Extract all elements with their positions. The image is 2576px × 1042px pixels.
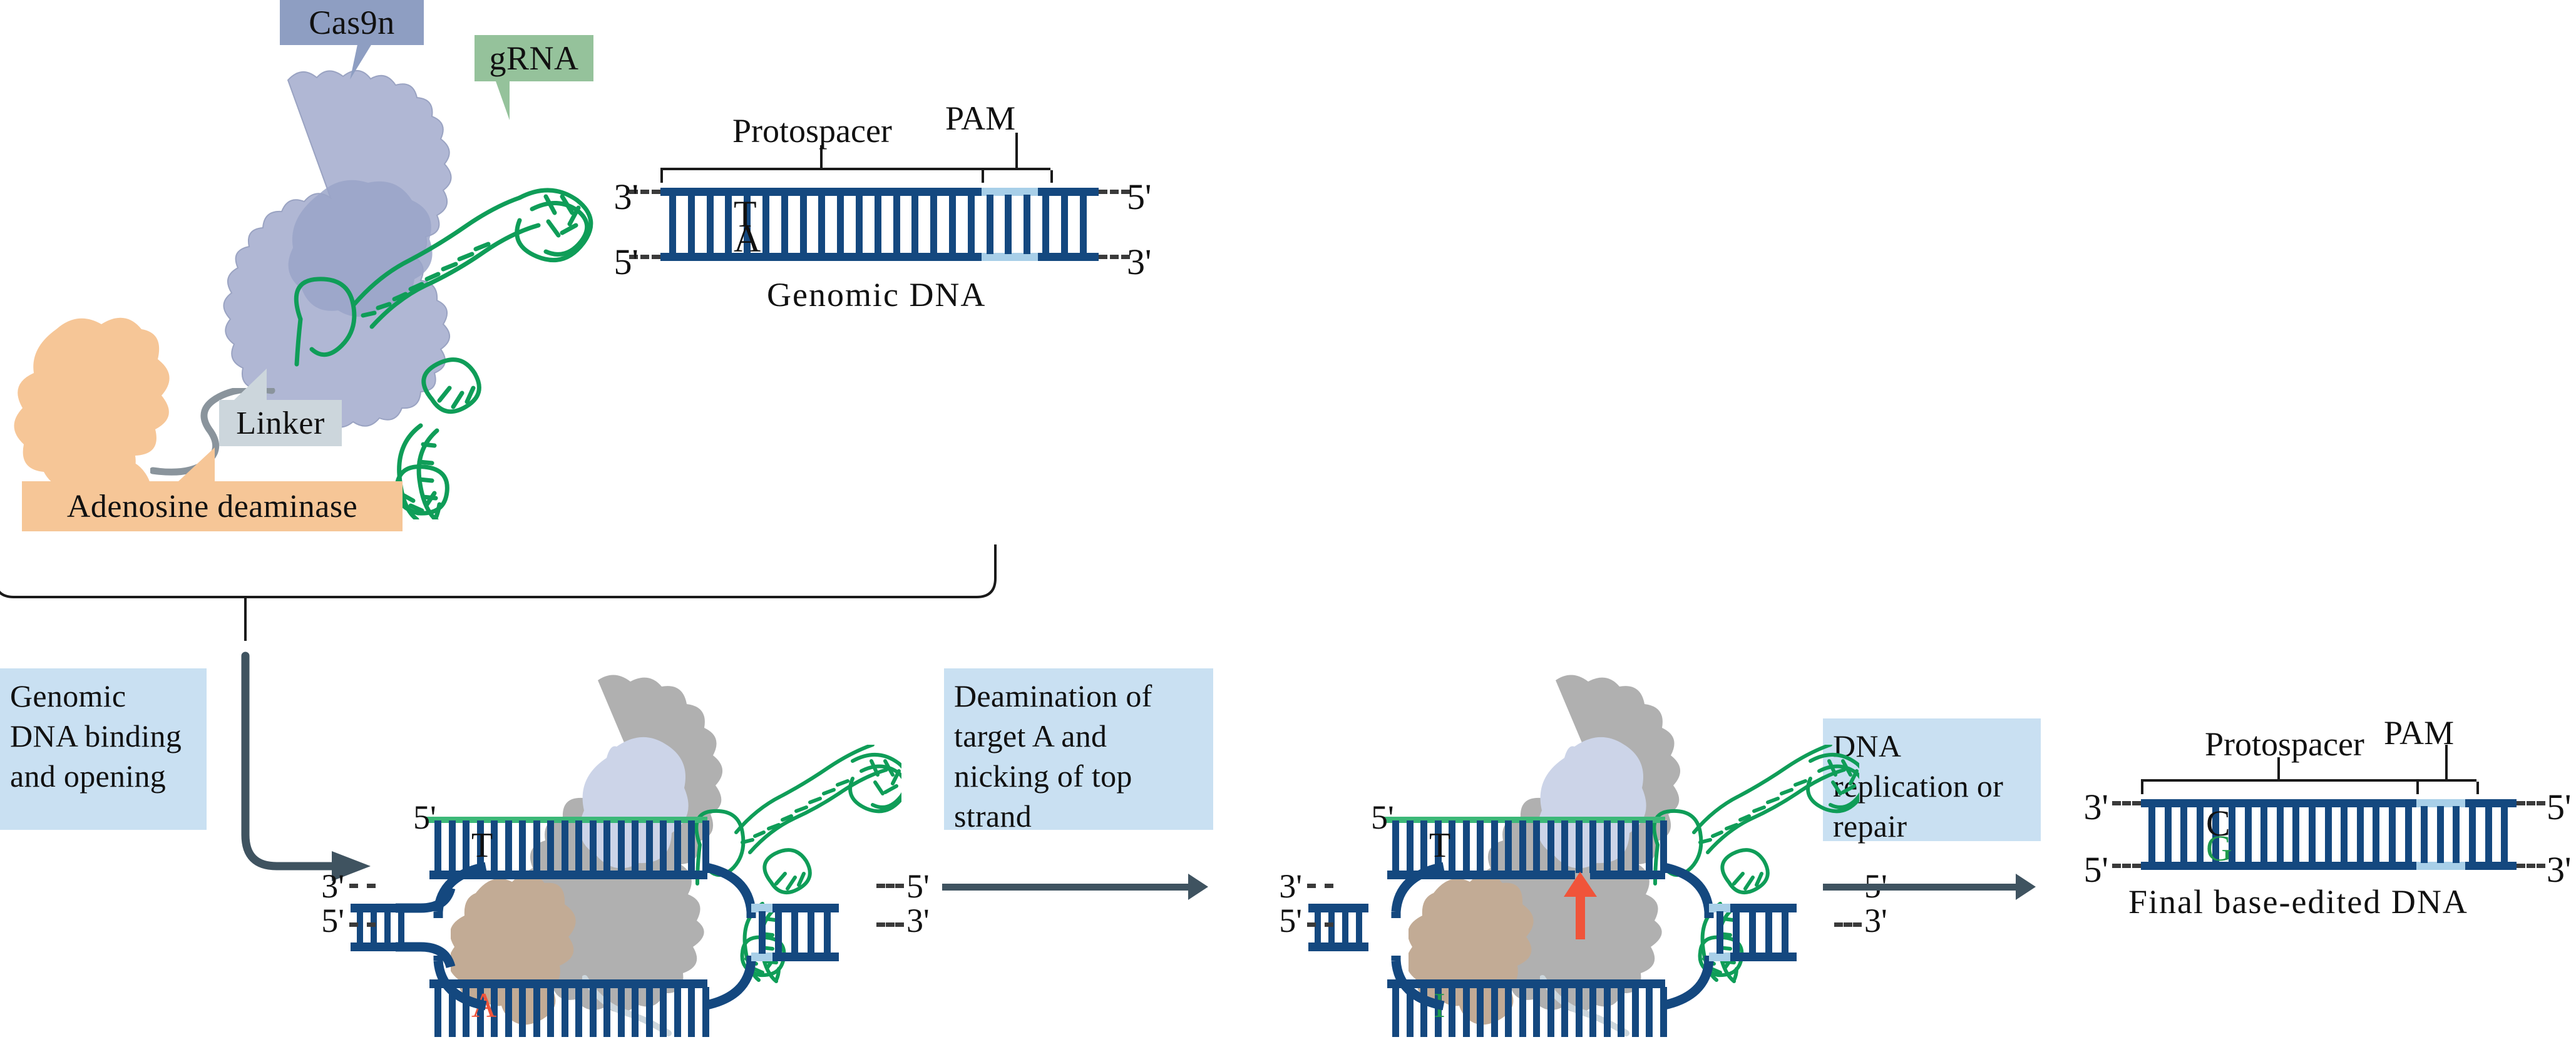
label-linker: Linker [219, 400, 342, 446]
panel-bound-left-5prime: 5' [321, 901, 344, 940]
final-pam-label: PAM [2384, 713, 2454, 752]
dna-rung [2245, 806, 2252, 863]
arrow-head [2016, 874, 2036, 900]
label-adenosine-deaminase-text: Adenosine deaminase [67, 488, 357, 525]
dna-rung [2485, 806, 2492, 863]
pam-highlight-bottom [751, 953, 772, 961]
label-cas9n-text: Cas9n [309, 3, 395, 42]
final-left-5prime: 5' [2084, 849, 2108, 891]
final-protospacer-bracket [2141, 779, 2416, 782]
dna-rung [505, 820, 512, 873]
step-annotation-deamination-nicking: Deamination of target A and nicking of t… [944, 668, 1213, 830]
dna-rung [533, 987, 540, 1037]
dna-rung [856, 195, 863, 254]
dna-rung [603, 987, 610, 1037]
dna-rung [688, 987, 695, 1037]
dna-rung [618, 987, 625, 1037]
dna-rung [2437, 806, 2444, 863]
protospacer-bracket [660, 168, 982, 170]
final-lead-right-top [2517, 801, 2545, 805]
dna-rung [1561, 987, 1568, 1037]
dna-rung [533, 820, 540, 873]
dna-rung [562, 820, 568, 873]
panel-bound-lead-right-bottom [876, 922, 904, 927]
panel-bound-top-strand-5prime: 5' [413, 798, 436, 837]
panel-deaminated-top-strand-5prime: 5' [1371, 798, 1394, 837]
bubble-neck-left [1371, 861, 1446, 1011]
dna-rung [1765, 911, 1772, 954]
dna-rung [1449, 987, 1455, 1037]
dna-rung [1519, 820, 1526, 873]
dna-rung [893, 195, 900, 254]
dna-rung [707, 195, 714, 254]
dna-rung [2180, 806, 2187, 863]
dna-rung [618, 820, 625, 873]
final-base-edited-dna-duplex: C G [2141, 799, 2517, 877]
dna-rung [2421, 806, 2428, 863]
dna-rung [547, 987, 554, 1037]
nick-arrow-icon [1562, 872, 1599, 941]
dna-rung [1477, 987, 1484, 1037]
dna-rung [1618, 987, 1624, 1037]
protospacer-label: Protospacer [732, 111, 892, 150]
dna-rung [775, 911, 782, 954]
dna-rung [2165, 806, 2172, 863]
dna-rung [791, 911, 798, 954]
dna-rung [1024, 195, 1030, 254]
bubble-neck-left [413, 861, 488, 1011]
edited-base-letter-bottom: G [2206, 830, 2232, 867]
dna-rung [519, 820, 526, 873]
dna-rung [1604, 987, 1611, 1037]
pam-highlight-bottom [1709, 953, 1730, 961]
dna-rung [2373, 806, 2379, 863]
dna-rung [1519, 987, 1526, 1037]
dna-rung [2389, 806, 2396, 863]
panel-deaminated-right-3prime: 3' [1864, 901, 1887, 940]
dna-rung [2357, 806, 2364, 863]
dna-rung [1491, 987, 1498, 1037]
label-linker-text: Linker [236, 405, 325, 442]
grouping-bracket [0, 543, 1008, 612]
end-label-5prime-right: 5' [1127, 176, 1151, 218]
panel-bound-lead-left-bottom [349, 922, 376, 927]
dna-rung [1646, 987, 1653, 1037]
dna-rung [1632, 820, 1639, 873]
dna-rung [1463, 987, 1470, 1037]
pam-bracket [982, 168, 1050, 170]
flow-arrow-replication-repair [1823, 884, 2017, 891]
panel-deaminated-left-3prime: 3' [1279, 867, 1302, 906]
dna-rung [575, 820, 582, 873]
dna-rung [575, 987, 582, 1037]
panel-bound-right-5prime: 5' [906, 867, 930, 906]
dna-rung [1061, 195, 1068, 254]
final-dna-caption: Final base-edited DNA [2128, 882, 2468, 921]
dna-rung [1646, 820, 1653, 873]
dna-rung [837, 195, 844, 254]
dna-rung [1632, 987, 1639, 1037]
dna-rung [949, 195, 956, 254]
dna-rung [1080, 195, 1087, 254]
dna-rung [2309, 806, 2316, 863]
dna-rung [800, 195, 807, 254]
final-lead-left-top [2112, 801, 2141, 805]
dna-rung [632, 987, 639, 1037]
final-right-5prime: 5' [2547, 786, 2571, 828]
callout-tail [481, 81, 510, 120]
panel-deaminated-lead-left-top [1307, 884, 1333, 888]
dna-rung [1547, 987, 1554, 1037]
dna-rung [660, 987, 667, 1037]
dna-rung [669, 195, 676, 254]
end-label-3prime-left: 3' [614, 176, 639, 218]
dna-rung [646, 820, 653, 873]
dna-rung [968, 195, 975, 254]
final-left-3prime: 3' [2084, 786, 2108, 828]
callout-tail [166, 447, 215, 481]
dna-rung [1005, 195, 1012, 254]
dna-rung [781, 195, 788, 254]
dna-rung [674, 820, 681, 873]
dna-rung [1505, 820, 1512, 873]
dna-rung [674, 987, 681, 1037]
dna-rung [911, 195, 918, 254]
final-lead-left-bottom [2112, 864, 2141, 868]
dna-rung [1576, 987, 1583, 1037]
dna-rung [2277, 806, 2284, 863]
dna-rung [1561, 820, 1568, 873]
dna-rung [660, 820, 667, 873]
dna-rung [2260, 806, 2267, 863]
dna-rung [1491, 820, 1498, 873]
dna-rung [1749, 911, 1756, 954]
dna-rung [547, 820, 554, 873]
dna-rung [646, 987, 653, 1037]
dna-rung [1782, 911, 1788, 954]
dna-rung [505, 987, 512, 1037]
dna-rung [1547, 820, 1554, 873]
label-grna-text: gRNA [489, 39, 578, 78]
label-cas9n: Cas9n [280, 0, 424, 45]
dna-rung [2292, 806, 2299, 863]
dna-rung [2341, 806, 2348, 863]
genomic-dna-duplex: T A [660, 188, 1099, 269]
dna-rung [2405, 806, 2412, 863]
dna-rung [1533, 820, 1540, 873]
final-pam-bracket [2416, 779, 2476, 782]
dna-rung [2325, 806, 2332, 863]
final-lead-right-bottom [2517, 864, 2545, 868]
base-letter-top: T [1429, 828, 1450, 863]
panel-bound-lead-right-top [876, 884, 904, 888]
right-mini-duplex [1709, 904, 1797, 961]
callout-tail [223, 369, 267, 400]
pam-bracket-stem [1015, 133, 1018, 168]
panel-bound-lead-left-top [349, 884, 376, 888]
dna-rung [762, 195, 769, 254]
dna-rung [1733, 911, 1740, 954]
panel-deaminated-lead-left-bottom [1307, 922, 1333, 927]
dna-rung [1589, 820, 1596, 873]
dna-rung [603, 820, 610, 873]
dna-rung [2453, 806, 2460, 863]
base-letter-bottom: A [734, 220, 761, 258]
dna-rung [808, 911, 814, 954]
end-label-5prime-left: 5' [614, 241, 639, 283]
dna-rung [725, 195, 732, 254]
end-label-3prime-right: 3' [1127, 241, 1151, 283]
step-annotation-genomic-dna-binding: Genomic DNA binding and opening [0, 668, 207, 830]
genomic-dna-caption: Genomic DNA [767, 275, 986, 314]
dna-rung [2501, 806, 2508, 863]
base-letter-top: T [471, 828, 493, 863]
pam-label: PAM [945, 99, 1015, 138]
dna-rung [875, 195, 881, 254]
label-adenosine-deaminase: Adenosine deaminase [22, 481, 403, 531]
dna-rung [562, 987, 568, 1037]
panel-deaminated-complex: T I [1308, 673, 1847, 1031]
dna-rung [519, 987, 526, 1037]
dna-rung [818, 195, 825, 254]
dna-rung [590, 987, 597, 1037]
dna-rung [1604, 820, 1611, 873]
final-right-3prime: 3' [2547, 849, 2571, 891]
dna-lead-right-bottom [1099, 255, 1130, 259]
dna-rung [1589, 987, 1596, 1037]
dna-rung [2148, 806, 2155, 863]
flow-arrow-deamination [942, 884, 1189, 891]
panel-bound-left-3prime: 3' [321, 867, 344, 906]
dna-rung [1618, 820, 1624, 873]
dna-rung [1463, 820, 1470, 873]
panel-deaminated-left-5prime: 5' [1279, 901, 1302, 940]
dna-rung [688, 195, 695, 254]
dna-rung [1477, 820, 1484, 873]
right-mini-duplex [751, 904, 839, 961]
arrow-head [1188, 874, 1208, 900]
dna-rung [1505, 987, 1512, 1037]
panel-deaminated-lead-right-bottom [1834, 922, 1862, 927]
dna-rung [2197, 806, 2204, 863]
dna-rung [759, 911, 766, 954]
dna-rung [2469, 806, 2476, 863]
dna-rung [590, 820, 597, 873]
dna-rung [824, 911, 831, 954]
panel-bound-complex: T A [351, 673, 889, 1031]
dna-rung [1716, 911, 1723, 954]
label-grna: gRNA [475, 35, 593, 81]
dna-rung [930, 195, 937, 254]
dna-rung [987, 195, 993, 254]
dna-rung [632, 820, 639, 873]
dna-rung [688, 820, 695, 873]
dna-rung [1576, 820, 1583, 873]
dna-rung [1533, 987, 1540, 1037]
panel-bound-right-3prime: 3' [906, 901, 930, 940]
dna-rung [1042, 195, 1049, 254]
dna-lead-right-top [1099, 190, 1130, 194]
final-protospacer-label: Protospacer [2205, 725, 2364, 764]
